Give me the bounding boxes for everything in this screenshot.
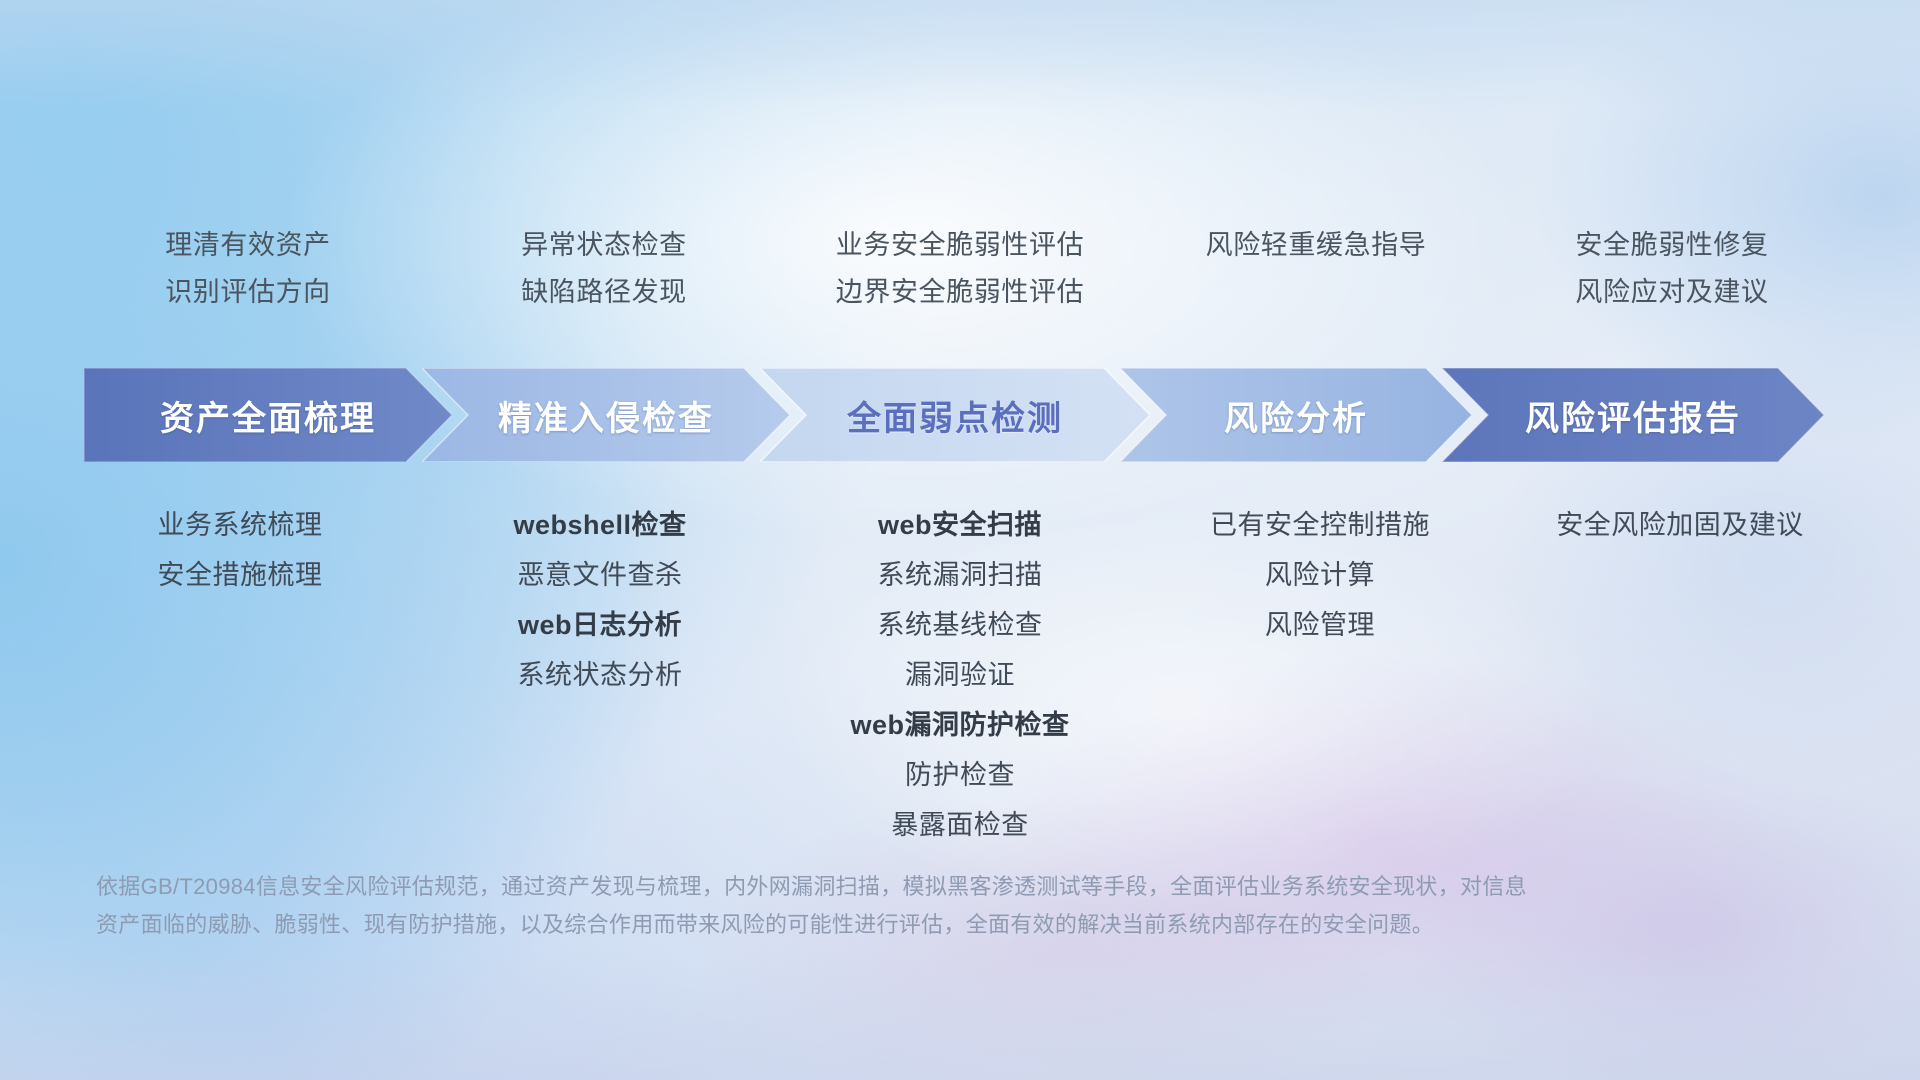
stage-bottom-labels-risk-analysis: 已有安全控制措施 风险计算 风险管理 <box>1140 500 1500 850</box>
process-step-intrusion-inspection[interactable]: 精准入侵检查 <box>422 368 790 462</box>
stage-top-labels-risk-analysis: 风险轻重缓急指导 <box>1138 222 1494 316</box>
bottom-label: web日志分析 <box>420 600 780 650</box>
bottom-label: 漏洞验证 <box>780 650 1140 700</box>
process-step-asset-inventory[interactable]: 资产全面梳理 <box>84 368 452 462</box>
bottom-label: 安全措施梳理 <box>60 550 420 600</box>
top-label: 识别评估方向 <box>70 269 426 316</box>
bottom-label: 防护检查 <box>780 750 1140 800</box>
footer-line-1: 依据GB/T20984信息安全风险评估规范，通过资产发现与梳理，内外网漏洞扫描，… <box>96 868 1716 906</box>
process-step-label: 全面弱点检测 <box>847 391 1063 440</box>
bottom-label: web安全扫描 <box>780 500 1140 550</box>
top-label: 边界安全脆弱性评估 <box>782 269 1138 316</box>
stage-top-labels-assessment-report: 安全脆弱性修复 风险应对及建议 <box>1494 222 1850 316</box>
top-label: 风险轻重缓急指导 <box>1138 222 1494 269</box>
bottom-label: 风险管理 <box>1140 600 1500 650</box>
bottom-label: 系统漏洞扫描 <box>780 550 1140 600</box>
process-step-label: 精准入侵检查 <box>498 391 714 440</box>
bottom-label: web漏洞防护检查 <box>780 700 1140 750</box>
bottom-label: webshell检查 <box>420 500 780 550</box>
bottom-label: 风险计算 <box>1140 550 1500 600</box>
process-chevron-band: 资产全面梳理 精准入侵检查 <box>84 368 1854 462</box>
process-step-assessment-report[interactable]: 风险评估报告 <box>1442 368 1824 462</box>
stage-top-labels-weakness-detection: 业务安全脆弱性评估 边界安全脆弱性评估 <box>782 222 1138 316</box>
footer-line-2: 资产面临的威胁、脆弱性、现有防护措施，以及综合作用而带来风险的可能性进行评估，全… <box>96 906 1716 944</box>
process-step-label: 资产全面梳理 <box>160 391 376 440</box>
top-label: 安全脆弱性修复 <box>1494 222 1850 269</box>
stage-bottom-labels-weakness-detection: web安全扫描 系统漏洞扫描 系统基线检查 漏洞验证 web漏洞防护检查 防护检… <box>780 500 1140 850</box>
bottom-label: 恶意文件查杀 <box>420 550 780 600</box>
bottom-label: 系统基线检查 <box>780 600 1140 650</box>
bottom-label: 安全风险加固及建议 <box>1500 500 1860 550</box>
bottom-label: 已有安全控制措施 <box>1140 500 1500 550</box>
footer-description: 依据GB/T20984信息安全风险评估规范，通过资产发现与梳理，内外网漏洞扫描，… <box>96 868 1716 944</box>
top-label: 业务安全脆弱性评估 <box>782 222 1138 269</box>
stage-bottom-labels-asset-inventory: 业务系统梳理 安全措施梳理 <box>60 500 420 850</box>
process-step-weakness-detection[interactable]: 全面弱点检测 <box>760 368 1150 462</box>
stage-top-labels-intrusion-inspection: 异常状态检查 缺陷路径发现 <box>426 222 782 316</box>
stage-bottom-labels-intrusion-inspection: webshell检查 恶意文件查杀 web日志分析 系统状态分析 <box>420 500 780 850</box>
stage-bottom-labels-assessment-report: 安全风险加固及建议 <box>1500 500 1860 850</box>
process-step-risk-analysis[interactable]: 风险分析 <box>1120 368 1472 462</box>
top-label: 异常状态检查 <box>426 222 782 269</box>
process-step-label: 风险评估报告 <box>1525 391 1741 440</box>
top-label: 风险应对及建议 <box>1494 269 1850 316</box>
stage-top-labels-asset-inventory: 理清有效资产 识别评估方向 <box>70 222 426 316</box>
bottom-label: 系统状态分析 <box>420 650 780 700</box>
bottom-label: 业务系统梳理 <box>60 500 420 550</box>
bottom-label: 暴露面检查 <box>780 800 1140 850</box>
top-label: 缺陷路径发现 <box>426 269 782 316</box>
slide-canvas: 理清有效资产 识别评估方向 异常状态检查 缺陷路径发现 业务安全脆弱性评估 边界… <box>0 0 1920 1080</box>
stage-bottom-labels: 业务系统梳理 安全措施梳理 webshell检查 恶意文件查杀 web日志分析 … <box>0 500 1920 850</box>
stage-top-labels: 理清有效资产 识别评估方向 异常状态检查 缺陷路径发现 业务安全脆弱性评估 边界… <box>0 222 1920 316</box>
top-label: 理清有效资产 <box>70 222 426 269</box>
process-step-label: 风险分析 <box>1224 391 1368 440</box>
